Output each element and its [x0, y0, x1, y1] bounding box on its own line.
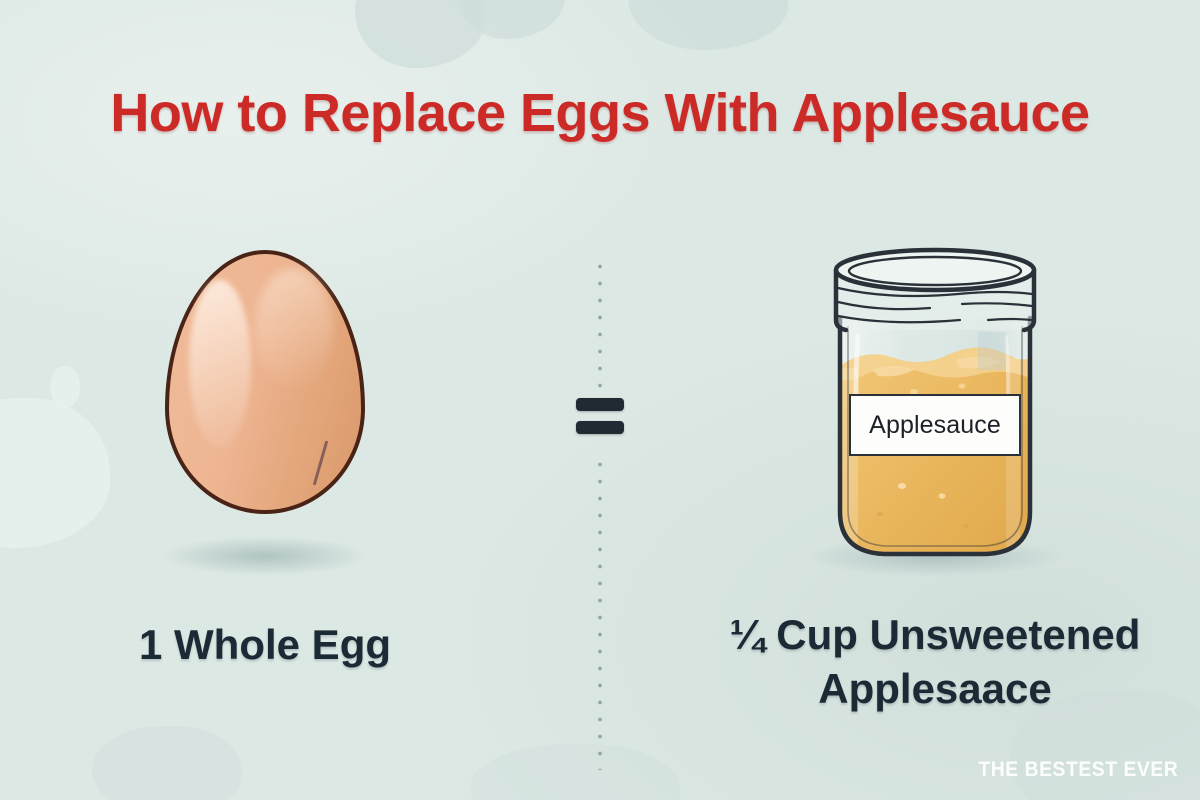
egg-illustration-group — [30, 240, 500, 600]
jar-label-text: Applesauce — [869, 411, 1001, 440]
dotted-line-bottom — [598, 456, 602, 770]
egg-shape — [165, 250, 365, 514]
infographic-canvas: How to Replace Eggs With Applesauce 1 Wh… — [0, 0, 1200, 800]
watermark: THE BESTEST EVER — [978, 758, 1178, 782]
jar-label: Applesauce — [849, 394, 1021, 456]
background-blob — [470, 744, 680, 800]
background-blob — [92, 726, 242, 800]
egg-shadow — [160, 536, 370, 576]
jar-illustration-group: Applesauce — [700, 240, 1170, 600]
applesauce-caption-line2: Applesaace — [818, 665, 1051, 712]
page-title: How to Replace Eggs With Applesauce — [0, 82, 1200, 144]
egg-highlight — [189, 280, 251, 448]
egg-detail-mark — [313, 440, 329, 485]
dotted-line-top — [598, 258, 602, 388]
applesauce-caption: ¼ Cup Unsweetened Applesaace — [700, 608, 1170, 716]
egg-caption: 1 Whole Egg — [30, 618, 500, 672]
egg-highlight-secondary — [255, 268, 333, 388]
equals-sign-icon — [576, 398, 624, 434]
equals-bar-bottom — [576, 421, 624, 434]
background-blob — [628, 0, 788, 50]
equals-bar-top — [576, 398, 624, 411]
applesauce-jar-icon: Applesauce — [785, 240, 1085, 590]
applesauce-caption-line1: ¼ Cup Unsweetened — [730, 611, 1141, 658]
egg-icon — [115, 250, 415, 590]
